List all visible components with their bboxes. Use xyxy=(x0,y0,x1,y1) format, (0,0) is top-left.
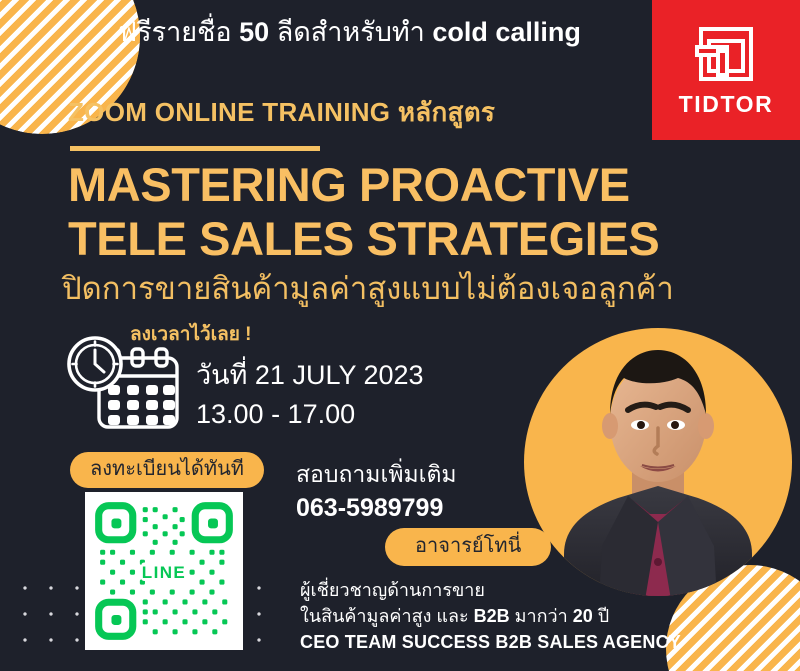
event-date: วันที่ 21 JULY 2023 xyxy=(196,360,424,390)
svg-text:LINE: LINE xyxy=(142,563,186,582)
course-kicker: ZOOM ONLINE TRAINING หลักสูตร xyxy=(68,92,495,133)
bio-line-1: ผู้เชี่ยวชาญด้านการขาย xyxy=(300,578,681,604)
divider-rule xyxy=(70,146,320,151)
register-now-button[interactable]: ลงทะเบียนได้ทันที xyxy=(70,452,264,488)
brand-wordmark: TIDTOR xyxy=(679,93,774,116)
register-now-label: ลงทะเบียนได้ทันที xyxy=(70,452,264,488)
speaker-portrait xyxy=(524,318,792,618)
contact-info: สอบถามเพิ่มเติม 063-5989799 xyxy=(296,458,457,526)
promotional-poster: TIDTOR ฟรีรายชื่อ 50 ลีดสำหรับทำ cold ca… xyxy=(0,0,800,671)
bio-line-2-e: ปี xyxy=(593,606,609,626)
bio-line-2-d: 20 xyxy=(573,606,593,626)
title-line-1: MASTERING PROACTIVE xyxy=(68,158,630,211)
line-qr-code[interactable]: LINE xyxy=(85,492,243,650)
contact-phone[interactable]: 063-5989799 xyxy=(296,491,457,527)
page-title: MASTERING PROACTIVE TELE SALES STRATEGIE… xyxy=(68,158,768,265)
contact-label: สอบถามเพิ่มเติม xyxy=(296,461,457,487)
promo-count: 50 xyxy=(239,17,269,47)
speaker-bio: ผู้เชี่ยวชาญด้านการขาย ในสินค้ามูลค่าสูง… xyxy=(300,578,681,656)
promo-middle: ลีดสำหรับทำ xyxy=(269,17,432,47)
tidtor-logo-block: TIDTOR xyxy=(652,0,800,140)
bio-line-2-b: B2B xyxy=(474,606,510,626)
title-line-2: TELE SALES STRATEGIES xyxy=(68,212,768,266)
promo-headline: ฟรีรายชื่อ 50 ลีดสำหรับทำ cold calling xyxy=(118,18,648,48)
bio-line-2-a: ในสินค้ามูลค่าสูง และ xyxy=(300,606,474,626)
promo-prefix: ฟรีรายชื่อ xyxy=(118,17,239,47)
bio-line-3: CEO TEAM SUCCESS B2B SALES AGENCY xyxy=(300,630,681,656)
speaker-name-pill: อาจารย์โทนี่ xyxy=(385,528,551,566)
page-subtitle: ปิดการขายสินค้ามูลค่าสูงแบบไม่ต้องเจอลูก… xyxy=(62,272,674,306)
speaker-name-label: อาจารย์โทนี่ xyxy=(385,528,551,566)
event-time: 13.00 - 17.00 xyxy=(196,395,424,434)
promo-highlight: cold calling xyxy=(432,17,581,47)
clock-calendar-icon xyxy=(62,336,186,432)
bio-line-2-c: มากว่า xyxy=(510,606,573,626)
event-datetime: วันที่ 21 JULY 2023 13.00 - 17.00 xyxy=(196,356,424,434)
bio-line-2: ในสินค้ามูลค่าสูง และ B2B มากว่า 20 ปี xyxy=(300,604,681,630)
tidtor-monogram-icon xyxy=(695,25,757,87)
